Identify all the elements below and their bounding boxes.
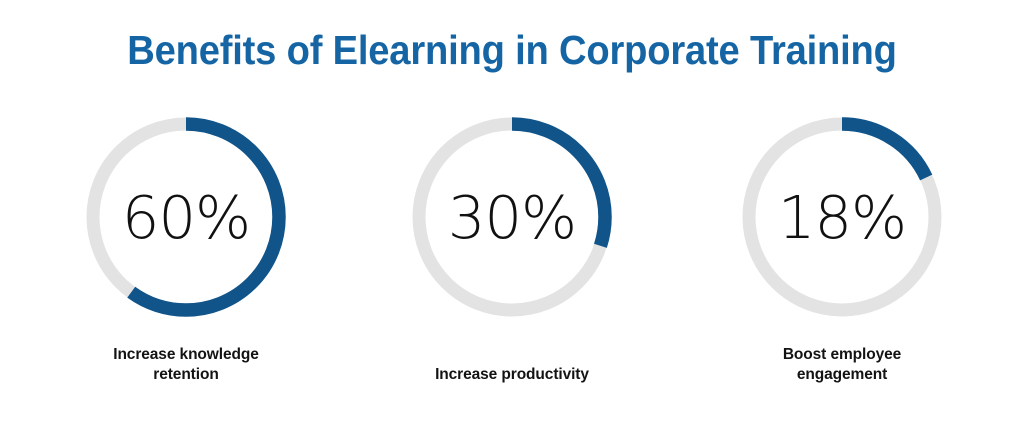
stat-caption-3-line1: Boost employee (679, 345, 1005, 365)
stat-card-2: 30% Increase productivity (349, 112, 675, 402)
stat-caption-3-line2: engagement (679, 365, 1005, 385)
donut-value-label-1: 60% (86, 117, 286, 317)
stat-caption-2-line1: Increase productivity (349, 365, 675, 385)
donut-chart-row: 60% Increase knowledge retention 30% Inc… (0, 112, 1024, 402)
donut-value-label-2: 30% (412, 117, 612, 317)
stat-caption-2: Increase productivity (349, 365, 675, 385)
donut-gauge-1: 60% (86, 117, 286, 317)
donut-value-label-3: 18% (742, 117, 942, 317)
stat-card-3: 18% Boost employee engagement (679, 112, 1005, 402)
stat-caption-1-line2: retention (23, 365, 349, 385)
stat-caption-3: Boost employee engagement (679, 345, 1005, 385)
donut-gauge-2: 30% (412, 117, 612, 317)
infographic-root: Benefits of Elearning in Corporate Train… (0, 0, 1024, 427)
stat-caption-1-line1: Increase knowledge (23, 345, 349, 365)
stat-card-1: 60% Increase knowledge retention (23, 112, 349, 402)
donut-gauge-3: 18% (742, 117, 942, 317)
page-title: Benefits of Elearning in Corporate Train… (36, 26, 988, 74)
stat-caption-1: Increase knowledge retention (23, 345, 349, 385)
